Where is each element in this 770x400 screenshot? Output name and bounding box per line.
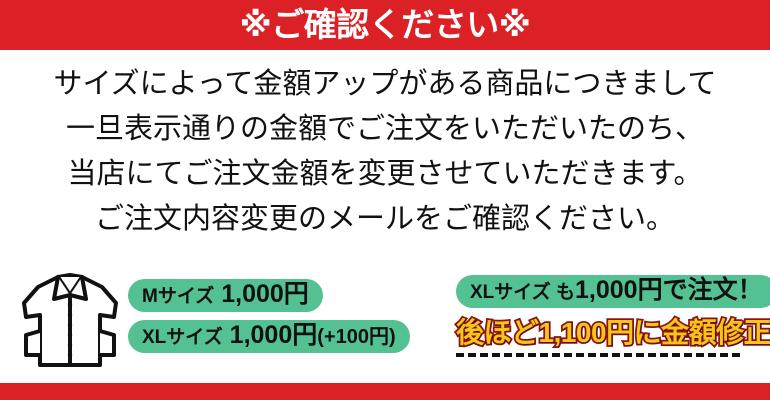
price-pill-m-amount: 1,000円 xyxy=(221,280,309,308)
notice-line-3: 当店にてご注文金額を変更させていただきます。 xyxy=(0,152,770,197)
footer-red-band xyxy=(0,383,770,400)
before-price-group: Mサイズ 1,000円 XLサイズ 1,000円(+100円) xyxy=(128,279,396,353)
order-price-pill-amount: 1,000円で注文！ xyxy=(575,276,763,304)
notice-banner-page: ※ご確認ください※ サイズによって金額アップがある商品につきまして 一旦表示通り… xyxy=(0,0,770,400)
notice-line-4: ご注文内容変更のメールをご確認ください。 xyxy=(0,197,770,242)
price-pill-xl: XLサイズ 1,000円(+100円) xyxy=(128,320,410,353)
revised-price-highlight: 後ほど1,100円に金額修正 xyxy=(456,318,756,349)
notice-line-2: 一旦表示通りの金額でご注文をいただいたのち、 xyxy=(0,107,770,152)
order-price-pill: XLサイズ も1,000円で注文！ xyxy=(456,275,770,308)
price-comparison-row: Mサイズ 1,000円 XLサイズ 1,000円(+100円) XLサイズ も1… xyxy=(0,265,770,383)
order-price-pill-particle: も xyxy=(556,282,575,303)
price-pill-xl-size: XLサイズ xyxy=(142,327,223,348)
price-pill-xl-note: (+100円) xyxy=(317,326,395,348)
price-pill-m-size: Mサイズ xyxy=(142,286,214,307)
order-price-pill-size: XLサイズ xyxy=(470,282,551,303)
dress-shirt-icon xyxy=(14,269,126,379)
page-title: ※ご確認ください※ xyxy=(0,0,770,50)
price-pill-xl-amount: 1,000円 xyxy=(230,321,318,349)
after-price-group: XLサイズ も1,000円で注文！ 後ほど1,100円に金額修正 xyxy=(456,275,756,357)
price-pill-m: Mサイズ 1,000円 xyxy=(128,279,323,312)
dashed-underline xyxy=(456,353,740,357)
notice-body: サイズによって金額アップがある商品につきまして 一旦表示通りの金額でご注文をいた… xyxy=(0,62,770,242)
notice-line-1: サイズによって金額アップがある商品につきまして xyxy=(0,62,770,107)
